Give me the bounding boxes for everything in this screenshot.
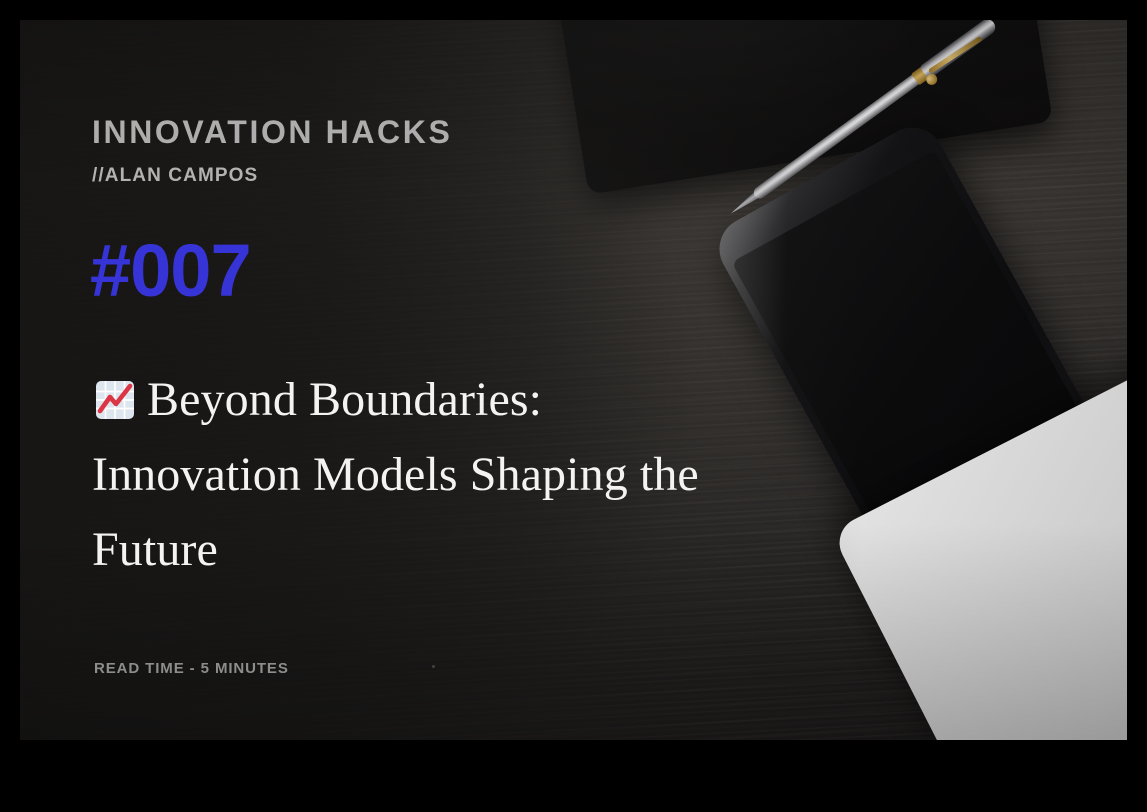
article-title: Beyond Boundaries: Innovation Models Sha…: [92, 363, 732, 588]
newsletter-brand-title: INNOVATION HACKS: [92, 116, 452, 148]
read-time-label: READ TIME - 5 MINUTES: [94, 661, 289, 676]
outer-frame: INNOVATION HACKS //ALAN CAMPOS #007: [0, 0, 1147, 812]
newsletter-cover-card: INNOVATION HACKS //ALAN CAMPOS #007: [20, 20, 1127, 740]
chart-increasing-icon: [92, 371, 138, 417]
background-speck: [432, 665, 435, 668]
issue-number: #007: [90, 234, 251, 308]
newsletter-author: //ALAN CAMPOS: [92, 166, 258, 185]
cover-content: INNOVATION HACKS //ALAN CAMPOS #007: [92, 20, 752, 740]
article-title-text: Beyond Boundaries: Innovation Models Sha…: [92, 373, 699, 576]
